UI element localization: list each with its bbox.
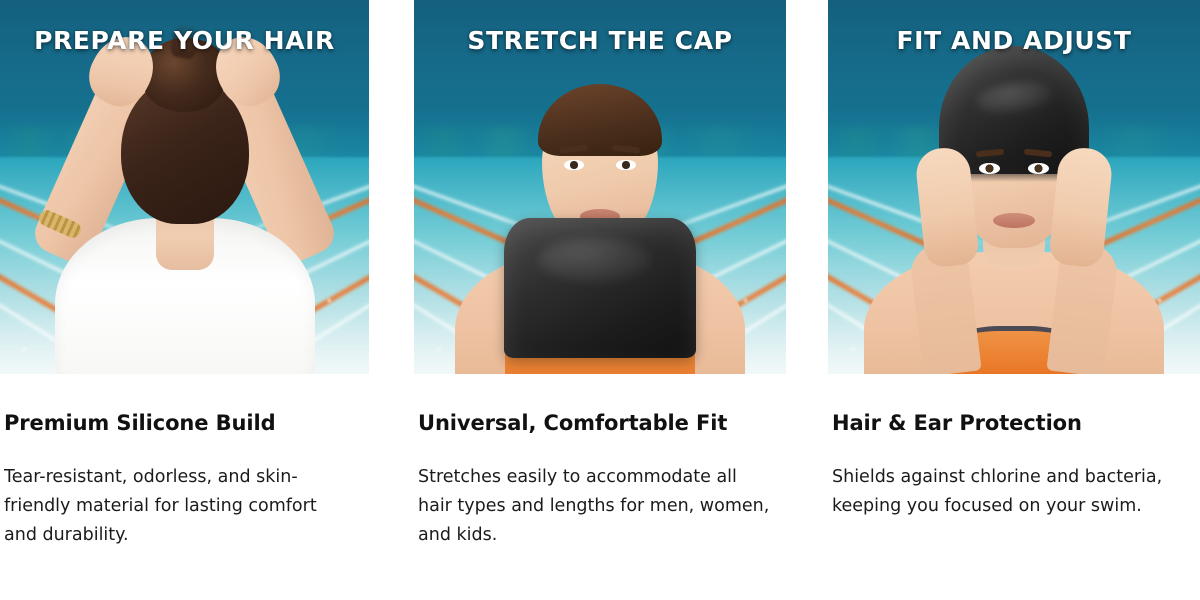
feature-image-universal-comfortable-fit: STRETCH THE CAP (414, 0, 786, 374)
eye-left-icon (979, 163, 1000, 174)
adjust-cap-icon (828, 0, 1200, 374)
stretch-cap-icon (414, 0, 786, 374)
feature-description-premium-silicone-build: Tear-resistant, odorless, and skin-frien… (0, 463, 369, 550)
feature-title-hair-ear-protection: Hair & Ear Protection (828, 410, 1200, 436)
hair-icon (538, 84, 662, 156)
feature-description-universal-comfortable-fit: Stretches easily to accommodate all hair… (414, 463, 786, 550)
hands-up-icon (0, 0, 369, 374)
feature-grid: PREPARE YOUR HAIR Premium Silicone Build… (0, 0, 1200, 600)
feature-text-universal-comfortable-fit: Universal, Comfortable Fit Stretches eas… (414, 410, 786, 550)
eye-right-icon (1028, 163, 1049, 174)
eye-right-icon (616, 160, 636, 170)
feature-image-hair-ear-protection: FIT AND ADJUST (828, 0, 1200, 374)
feature-description-hair-ear-protection: Shields against chlorine and bacteria, k… (828, 463, 1200, 521)
lips-icon (993, 213, 1035, 228)
swim-cap-icon (504, 218, 696, 358)
eye-left-icon (564, 160, 584, 170)
feature-title-universal-comfortable-fit: Universal, Comfortable Fit (414, 410, 786, 436)
feature-card-premium-silicone-build: PREPARE YOUR HAIR Premium Silicone Build… (0, 0, 369, 600)
cap-highlight-icon (539, 238, 650, 283)
feature-text-hair-ear-protection: Hair & Ear Protection Shields against ch… (828, 410, 1200, 521)
overlay-heading-premium-silicone-build: PREPARE YOUR HAIR (0, 26, 369, 55)
overlay-heading-hair-ear-protection: FIT AND ADJUST (828, 26, 1200, 55)
feature-title-premium-silicone-build: Premium Silicone Build (0, 410, 369, 436)
feature-image-premium-silicone-build: PREPARE YOUR HAIR (0, 0, 369, 374)
feature-text-premium-silicone-build: Premium Silicone Build Tear-resistant, o… (0, 410, 369, 550)
feature-card-hair-ear-protection: FIT AND ADJUST Hair & Ear Protection Shi… (828, 0, 1200, 600)
overlay-heading-universal-comfortable-fit: STRETCH THE CAP (414, 26, 786, 55)
feature-card-universal-comfortable-fit: STRETCH THE CAP Universal, Comfortable F… (414, 0, 786, 600)
